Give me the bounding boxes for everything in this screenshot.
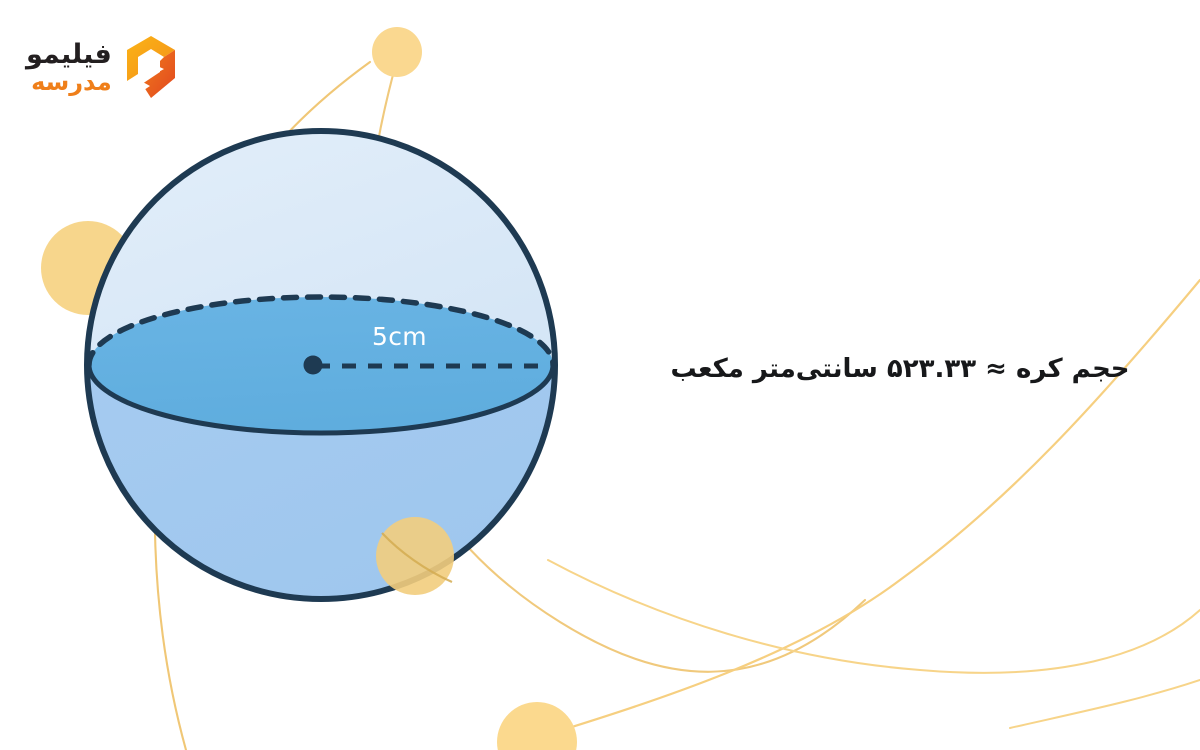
brand-name-primary: فیلیمو <box>26 41 112 68</box>
hexagon-play-icon <box>120 34 182 100</box>
sphere-center-dot <box>304 356 323 375</box>
decor-arc-bottom-inner <box>530 280 1200 740</box>
brand-name-secondary: مدرسه <box>31 70 112 94</box>
volume-result-caption: حجم کره ≈ ۵۲۳.۳۳ سانتی‌متر مکعب <box>620 352 1180 387</box>
decor-circle-bottom <box>497 702 577 750</box>
sphere-group <box>87 131 555 599</box>
decor-arc-bottom-far <box>1010 680 1200 728</box>
diagram-canvas: 5cm فیلیمو مدرسه حجم کره ≈ ۵۲۳.۳۳ سانتی‌… <box>0 0 1200 750</box>
decor-arc-bottom-outer <box>548 560 1200 673</box>
brand-logo[interactable]: فیلیمو مدرسه <box>26 26 226 108</box>
decor-circle-top <box>372 27 422 77</box>
brand-logo-text: فیلیمو مدرسه <box>26 41 112 94</box>
decor-circle-mid-bottom <box>376 517 454 595</box>
